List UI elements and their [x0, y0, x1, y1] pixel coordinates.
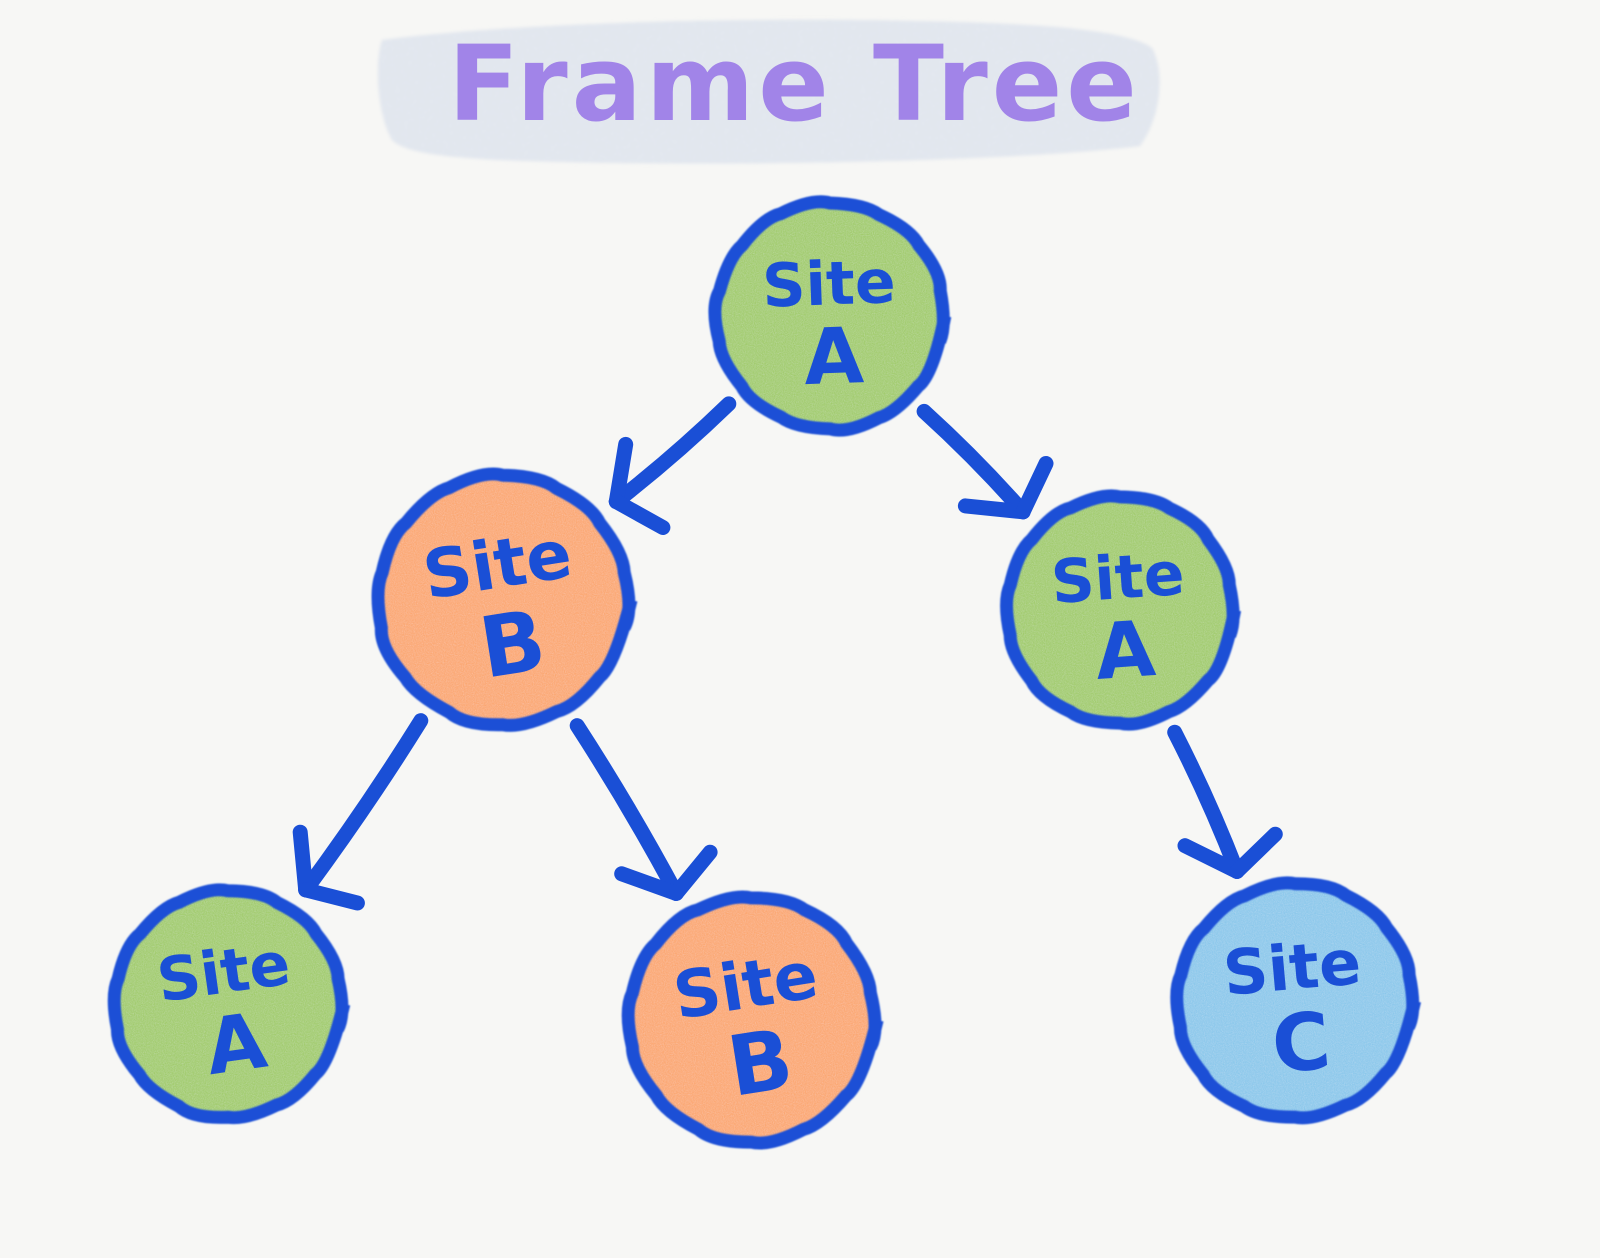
node-label-top: Site	[1049, 539, 1187, 618]
node-label-top: Site	[761, 247, 897, 322]
node-label-bottom: A	[802, 312, 865, 403]
page-title: Frame Tree	[448, 23, 1141, 145]
node-label-bottom: C	[1268, 995, 1334, 1092]
tree-node-root[interactable]: SiteA	[715, 202, 945, 430]
node-label-bottom: A	[200, 997, 272, 1093]
arrow-head-left	[616, 444, 625, 501]
arrow-head-left	[300, 832, 306, 890]
tree-node-c1[interactable]: SiteC	[1177, 883, 1415, 1118]
tree-node-a2[interactable]: SiteA	[1007, 496, 1235, 724]
arrow-head-left	[965, 506, 1023, 512]
frame-tree-diagram: Frame Tree SiteASiteBSiteASiteASiteBSite…	[0, 0, 1600, 1258]
tree-node-a3[interactable]: SiteA	[114, 890, 344, 1118]
node-label-bottom: A	[1092, 605, 1158, 698]
tree-node-b1[interactable]: SiteB	[378, 474, 631, 725]
tree-node-b2[interactable]: SiteB	[628, 897, 877, 1143]
